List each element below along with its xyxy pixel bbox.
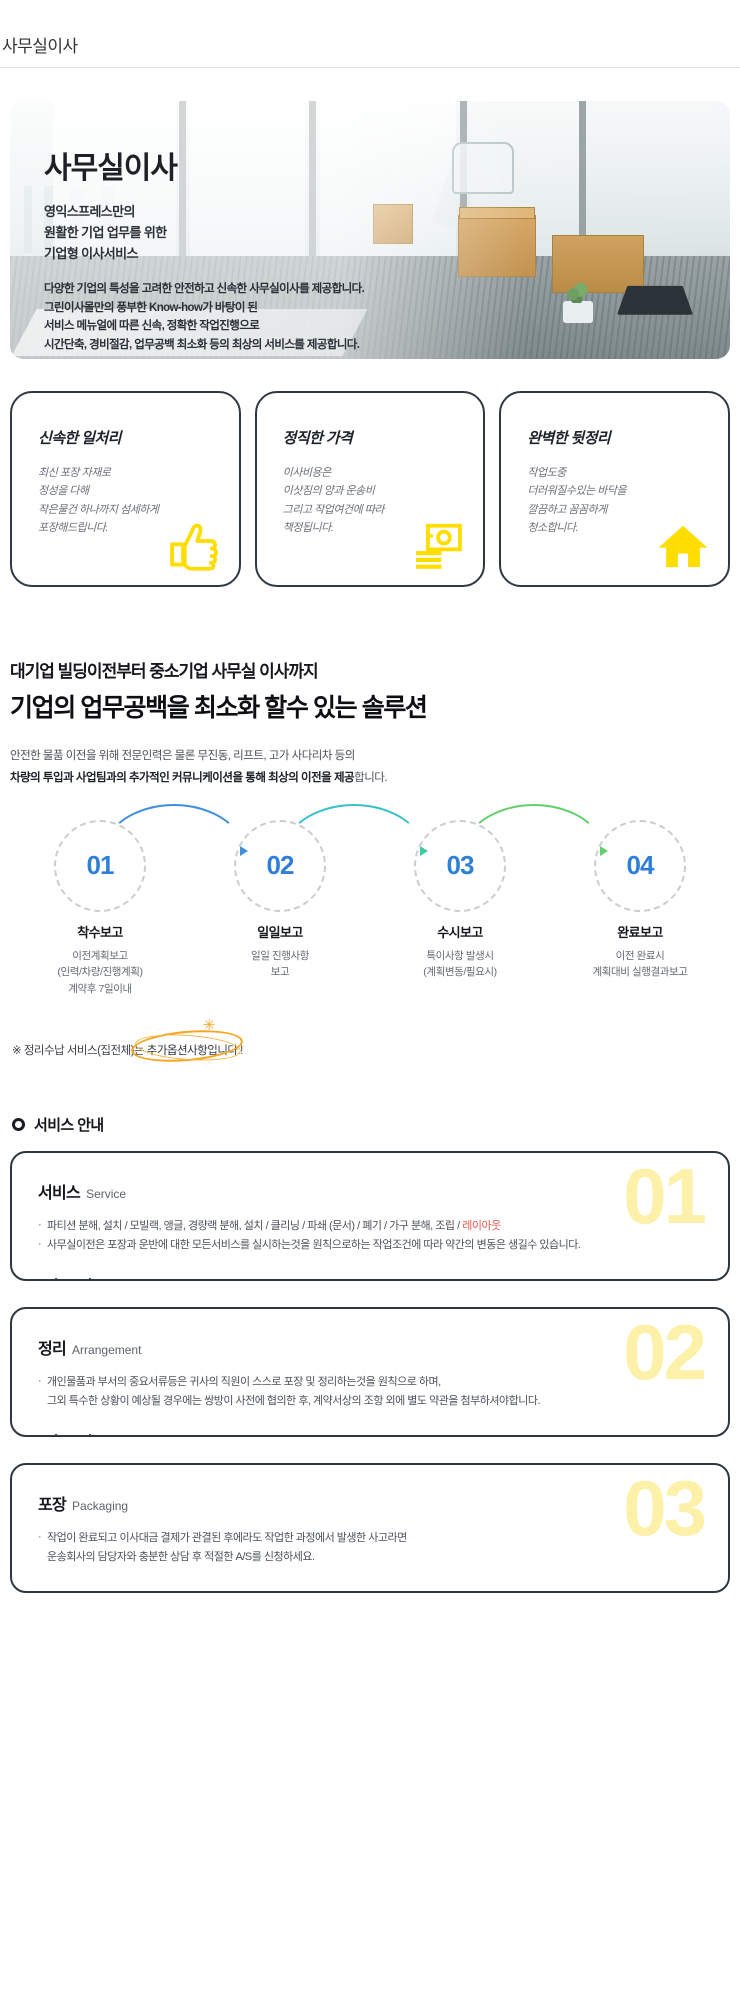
- feature-card-speed: 신속한 일처리 최신 포장 자재로 정성을 다해 작은물건 하나까지 섬세하게 …: [10, 391, 241, 587]
- list-item-text: 사무실이전은 포장과 운반에 대한 모든서비스를 실시하는것을 원칙으로하는 작…: [47, 1239, 580, 1251]
- process-step-01: 01 착수보고 이전계획보고 (인력/차량/진행계획) 계약후 7일이내: [10, 820, 190, 998]
- page-title: 사무실이사: [2, 32, 78, 57]
- step-body-line-1: 이전 완료시: [550, 948, 730, 965]
- option-note-prefix: ※ 정리수납 서비스(집전체)는: [12, 1045, 147, 1057]
- step-body-line-1: 일일 진행사항: [190, 948, 370, 965]
- solution-description-line-2: 차량의 투입과 사업팀과의 추가적인 커뮤니케이션을 통해 최상의 이전을 제공…: [10, 768, 730, 790]
- step-body: 일일 진행사항 보고: [190, 948, 370, 982]
- step-body-line-1: 특이사항 발생시: [370, 948, 550, 965]
- list-item: 운송회사의 담당자와 충분한 상담 후 적절한 A/S를 신청하세요.: [38, 1548, 702, 1567]
- sparkle-icon: ✳: [203, 1016, 215, 1034]
- feature-body-line-2: 이삿짐의 양과 운송비: [283, 482, 484, 500]
- panel-title: 포장Packaging: [38, 1491, 702, 1515]
- solution-description-emphasis: 차량의 투입과 사업팀과의 추가적인 커뮤니케이션을 통해 최상의 이전을 제공: [10, 772, 354, 784]
- step-body: 이전계획보고 (인력/차량/진행계획) 계약후 7일이내: [10, 948, 190, 998]
- list-item-accent: 레이아웃: [462, 1220, 500, 1232]
- list-item-text: 그외 특수한 상황이 예상될 경우에는 쌍방이 사전에 협의한 후, 계약서상의…: [47, 1395, 540, 1407]
- hero-subtitle-line-2: 원활한 기업 업무를 위한: [44, 222, 730, 243]
- panel-connector-notch: [55, 1261, 92, 1281]
- service-guide-title: 서비스 안내: [34, 1114, 104, 1135]
- step-circle: 04: [594, 820, 686, 912]
- feature-body-line-3: 그리고 작업여건에 따라: [283, 501, 484, 519]
- panel-connector-notch: [55, 1416, 92, 1436]
- solution-kicker: 대기업 빌딩이전부터 중소기업 사무실 이사까지: [10, 657, 730, 682]
- solution-description: 안전한 물품 이전을 위해 전문인력은 물론 무진동, 리프트, 고가 사다리차…: [10, 746, 730, 790]
- hero-description-line-4: 시간단축, 경비절감, 업무공백 최소화 등의 최상의 서비스를 제공합니다.: [44, 336, 730, 355]
- panel-title: 정리Arrangement: [38, 1335, 702, 1359]
- list-item-text: 운송회사의 담당자와 충분한 상담 후 적절한 A/S를 신청하세요.: [47, 1551, 315, 1563]
- panel-title: 서비스Service: [38, 1179, 702, 1203]
- list-item: 개인물품과 부서의 중요서류등은 귀사의 직원이 스스로 포장 및 정리하는것을…: [38, 1373, 702, 1392]
- step-body-line-1: 이전계획보고: [10, 948, 190, 965]
- feature-title: 정직한 가격: [283, 427, 484, 448]
- feature-card-price: 정직한 가격 이사비용은 이삿짐의 양과 운송비 그리고 작업여건에 따라 책정…: [255, 391, 486, 587]
- list-item: 그외 특수한 상황이 예상될 경우에는 쌍방이 사전에 협의한 후, 계약서상의…: [38, 1392, 702, 1411]
- feature-body-line-3: 깔끔하고 꼼꼼하게: [527, 501, 728, 519]
- hero-banner: 사무실이사 영익스프레스만의 원활한 기업 업무를 위한 기업형 이사서비스 다…: [10, 101, 730, 359]
- step-body-line-2: (계획변동/필요시): [370, 964, 550, 981]
- step-body-line-2: (인력/차량/진행계획): [10, 964, 190, 981]
- hero-content: 사무실이사 영익스프레스만의 원활한 기업 업무를 위한 기업형 이사서비스 다…: [10, 101, 730, 355]
- feature-card-cleanup: 완벽한 뒷정리 작업도중 더러워질수있는 바닥을 깔끔하고 꼼꼼하게 청소합니다…: [499, 391, 730, 587]
- page-header: 사무실이사: [0, 0, 740, 68]
- feature-body-line-1: 작업도중: [527, 464, 728, 482]
- panel-title-en: Service: [86, 1187, 126, 1201]
- panel-title-ko: 서비스: [38, 1185, 80, 1202]
- feature-title: 완벽한 뒷정리: [527, 427, 728, 448]
- solution-headline: 기업의 업무공백을 최소화 할수 있는 솔루션: [10, 688, 730, 724]
- step-body-line-2: 계획대비 실행결과보고: [550, 964, 730, 981]
- step-title: 수시보고: [370, 922, 550, 941]
- list-item: 작업이 완료되고 이사대금 결제가 관결된 후에라도 작업한 과정에서 발생한 …: [38, 1529, 702, 1548]
- feature-body-line-2: 정성을 다해: [38, 482, 239, 500]
- process-step-02: 02 일일보고 일일 진행사항 보고: [190, 820, 370, 998]
- feature-body-line-2: 더러워질수있는 바닥을: [527, 482, 728, 500]
- list-item-text: 개인물품과 부서의 중요서류등은 귀사의 직원이 스스로 포장 및 정리하는것을…: [47, 1376, 441, 1388]
- panel-title-ko: 정리: [38, 1341, 66, 1358]
- list-item-text: 파티션 분해, 설치 / 모빌랙, 앵글, 경량랙 분해, 설치 / 클리닝 /…: [47, 1220, 462, 1232]
- money-icon: [411, 519, 465, 573]
- list-item: 사무실이전은 포장과 운반에 대한 모든서비스를 실시하는것을 원칙으로하는 작…: [38, 1236, 702, 1255]
- thumbs-up-icon: [167, 519, 221, 573]
- hero-description-line-3: 서비스 메뉴얼에 따른 신속, 정확한 작업진행으로: [44, 317, 730, 336]
- step-title: 완료보고: [550, 922, 730, 941]
- service-panel-list: 01 서비스Service 파티션 분해, 설치 / 모빌랙, 앵글, 경량랙 …: [0, 1135, 740, 1592]
- hero-description-line-1: 다양한 기업의 특성을 고려한 안전하고 신속한 사무실이사를 제공합니다.: [44, 280, 730, 299]
- step-body-line-2: 보고: [190, 964, 370, 981]
- panel-title-en: Arrangement: [72, 1343, 141, 1357]
- process-step-04: 04 완료보고 이전 완료시 계획대비 실행결과보고: [550, 820, 730, 998]
- hero-description-line-2: 그린이사몰만의 풍부한 Know-how가 바탕이 된: [44, 299, 730, 318]
- option-note: ※ 정리수납 서비스(집전체)는 ✳추가옵션사항입니다.!: [0, 998, 740, 1058]
- service-panel-packaging: 03 포장Packaging 작업이 완료되고 이사대금 결제가 관결된 후에라…: [10, 1463, 730, 1593]
- panel-bullet-list: 파티션 분해, 설치 / 모빌랙, 앵글, 경량랙 분해, 설치 / 클리닝 /…: [38, 1217, 702, 1255]
- option-note-highlight: 추가옵션사항: [147, 1045, 207, 1057]
- service-panel-arrangement: 02 정리Arrangement 개인물품과 부서의 중요서류등은 귀사의 직원…: [10, 1307, 730, 1437]
- panel-title-en: Packaging: [72, 1499, 128, 1513]
- feature-body-line-1: 이사비용은: [283, 464, 484, 482]
- hero-subtitle-line-3: 기업형 이사서비스: [44, 243, 730, 264]
- step-number: 04: [627, 850, 654, 881]
- list-item-text: 작업이 완료되고 이사대금 결제가 관결된 후에라도 작업한 과정에서 발생한 …: [47, 1532, 407, 1544]
- service-guide-header: 서비스 안내: [0, 1058, 740, 1135]
- bullet-dot-icon: [12, 1118, 25, 1131]
- panel-bullet-list: 작업이 완료되고 이사대금 결제가 관결된 후에라도 작업한 과정에서 발생한 …: [38, 1529, 702, 1567]
- list-item: 파티션 분해, 설치 / 모빌랙, 앵글, 경량랙 분해, 설치 / 클리닝 /…: [38, 1217, 702, 1236]
- hero-subtitle: 영익스프레스만의 원활한 기업 업무를 위한 기업형 이사서비스: [44, 201, 730, 264]
- house-icon: [656, 519, 710, 573]
- process-step-list: 01 착수보고 이전계획보고 (인력/차량/진행계획) 계약후 7일이내 02 …: [0, 790, 740, 998]
- step-body-line-3: 계약후 7일이내: [10, 981, 190, 998]
- step-body: 특이사항 발생시 (계획변동/필요시): [370, 948, 550, 982]
- option-note-highlight-wrap: ✳추가옵션사항: [147, 1042, 207, 1058]
- solution-section: 대기업 빌딩이전부터 중소기업 사무실 이사까지 기업의 업무공백을 최소화 할…: [0, 587, 740, 790]
- hero-description: 다양한 기업의 특성을 고려한 안전하고 신속한 사무실이사를 제공합니다. 그…: [44, 280, 730, 355]
- option-note-suffix: 입니다.!: [207, 1045, 243, 1057]
- feature-card-list: 신속한 일처리 최신 포장 자재로 정성을 다해 작은물건 하나까지 섬세하게 …: [0, 359, 740, 587]
- hero-title: 사무실이사: [44, 143, 730, 187]
- solution-description-line-1: 안전한 물품 이전을 위해 전문인력은 물론 무진동, 리프트, 고가 사다리차…: [10, 746, 730, 768]
- feature-body-line-1: 최신 포장 자재로: [38, 464, 239, 482]
- step-title: 착수보고: [10, 922, 190, 941]
- step-title: 일일보고: [190, 922, 370, 941]
- process-step-03: 03 수시보고 특이사항 발생시 (계획변동/필요시): [370, 820, 550, 998]
- hero-subtitle-line-1: 영익스프레스만의: [44, 201, 730, 222]
- service-panel-service: 01 서비스Service 파티션 분해, 설치 / 모빌랙, 앵글, 경량랙 …: [10, 1151, 730, 1281]
- feature-body-line-3: 작은물건 하나까지 섬세하게: [38, 501, 239, 519]
- feature-title: 신속한 일처리: [38, 427, 239, 448]
- panel-bullet-list: 개인물품과 부서의 중요서류등은 귀사의 직원이 스스로 포장 및 정리하는것을…: [38, 1373, 702, 1411]
- step-body: 이전 완료시 계획대비 실행결과보고: [550, 948, 730, 982]
- solution-description-tail: 합니다.: [354, 772, 387, 784]
- panel-title-ko: 포장: [38, 1497, 66, 1514]
